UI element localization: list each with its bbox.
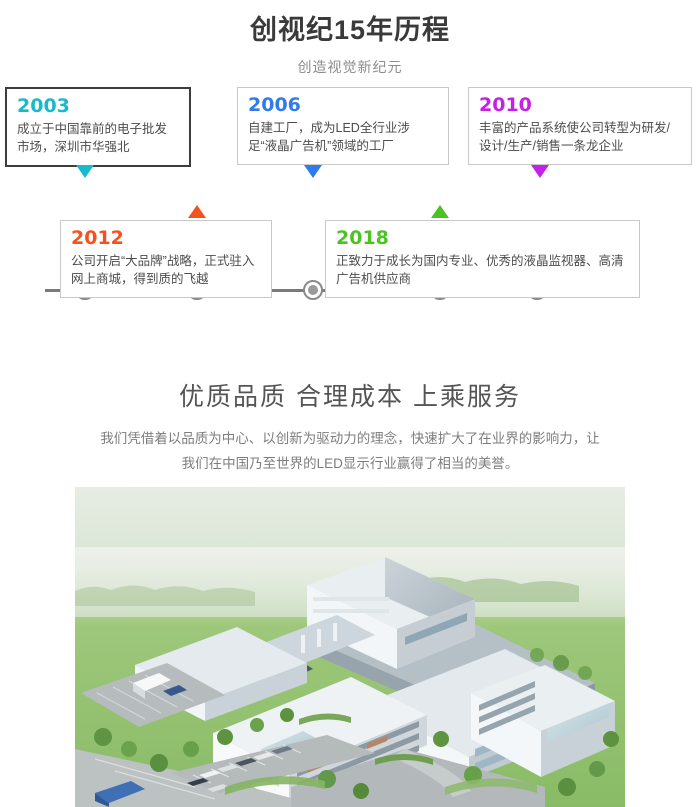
milestone-pointer-2018	[431, 205, 449, 218]
quality-paragraph: 我们凭借着以品质为中心、以创新为驱动力的理念，快速扩大了在业界的影响力，让我们在…	[98, 427, 603, 477]
quality-heading: 优质品质 合理成本 上乘服务	[0, 377, 700, 413]
milestone-description-2003: 成立于中国靠前的电子批发市场，深圳市华强北	[17, 120, 179, 156]
timeline-node-3	[303, 280, 323, 300]
milestone-pointer-2003	[76, 165, 94, 178]
milestone-year-2006: 2006	[248, 95, 438, 116]
milestone-card-2003: 2003 成立于中国靠前的电子批发市场，深圳市华强北	[5, 87, 191, 167]
milestone-pointer-2012	[188, 205, 206, 218]
page-title: 创视纪15年历程	[0, 14, 700, 48]
milestone-year-2012: 2012	[71, 228, 261, 249]
milestone-year-2018: 2018	[336, 228, 629, 249]
milestone-card-2010: 2010 丰富的产品系统使公司转型为研发/设计/生产/销售一条龙企业	[468, 87, 692, 165]
milestone-card-2018: 2018 正致力于成长为国内专业、优秀的液晶监视器、高清广告机供应商	[325, 220, 640, 298]
timeline-section: 2003 成立于中国靠前的电子批发市场，深圳市华强北 2006 自建工厂，成为L…	[0, 87, 700, 322]
factory-campus-image	[75, 487, 625, 807]
milestone-description-2018: 正致力于成长为国内专业、优秀的液晶监视器、高清广告机供应商	[336, 252, 629, 288]
milestone-description-2012: 公司开启“大品牌”战略，正式驻入网上商城，得到质的飞越	[71, 252, 261, 288]
milestone-year-2010: 2010	[479, 95, 681, 116]
milestone-card-2012: 2012 公司开启“大品牌”战略，正式驻入网上商城，得到质的飞越	[60, 220, 272, 298]
quality-section: 优质品质 合理成本 上乘服务 我们凭借着以品质为中心、以创新为驱动力的理念，快速…	[0, 377, 700, 477]
milestone-description-2006: 自建工厂，成为LED全行业涉足“液晶广告机”领域的工厂	[248, 119, 438, 155]
milestone-pointer-2010	[531, 165, 549, 178]
page-subtitle: 创造视觉新纪元	[0, 57, 700, 77]
milestone-card-2006: 2006 自建工厂，成为LED全行业涉足“液晶广告机”领域的工厂	[237, 87, 449, 165]
milestone-year-2003: 2003	[17, 96, 179, 117]
factory-campus-illustration	[75, 487, 625, 807]
milestone-description-2010: 丰富的产品系统使公司转型为研发/设计/生产/销售一条龙企业	[479, 119, 681, 155]
milestone-pointer-2006	[304, 165, 322, 178]
page-header: 创视纪15年历程 创造视觉新纪元	[0, 0, 700, 77]
